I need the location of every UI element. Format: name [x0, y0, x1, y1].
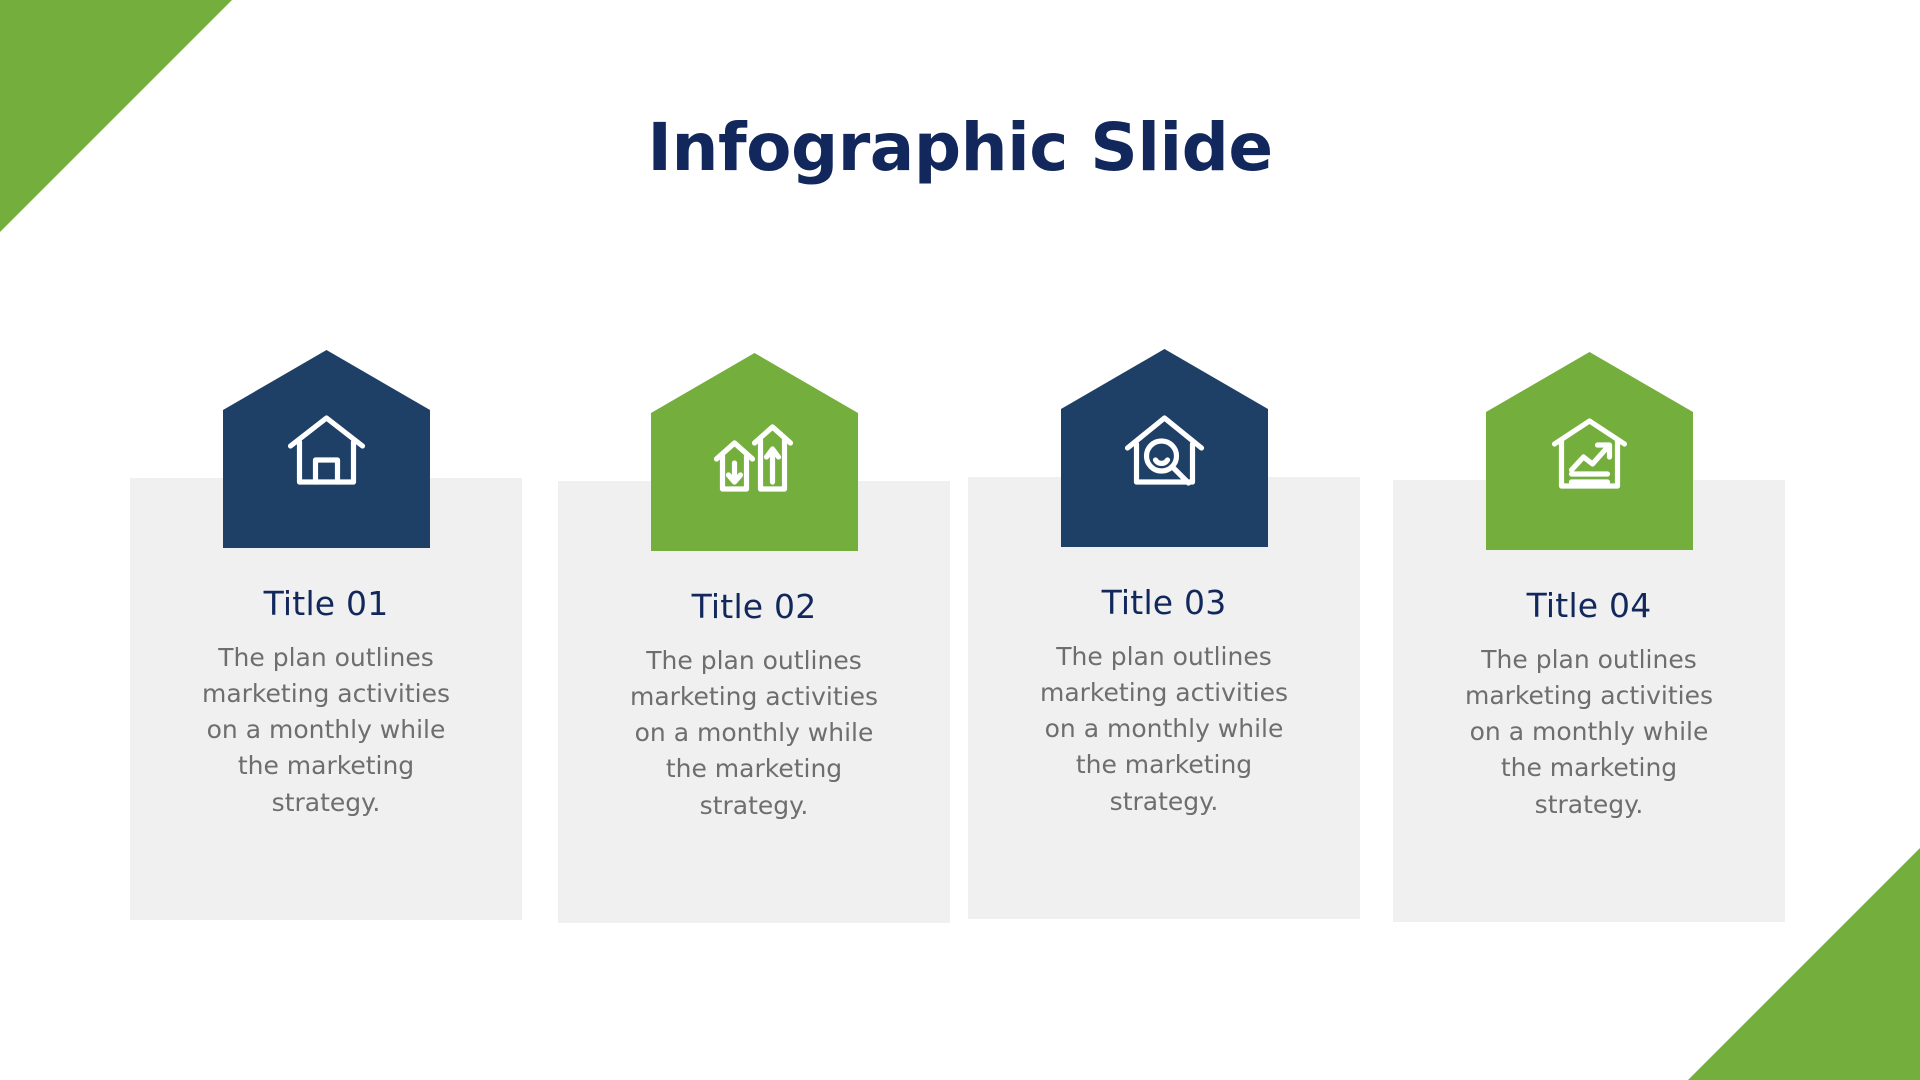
card-title: Title 01: [142, 584, 510, 624]
card-description: The plan outlines marketing activities o…: [980, 639, 1348, 820]
card-badge-pentagon: [651, 353, 858, 551]
card-badge-pentagon: [223, 350, 430, 548]
card-badge-pentagon: [1486, 352, 1693, 550]
card-description: The plan outlines marketing activities o…: [570, 643, 938, 824]
card-title: Title 02: [570, 587, 938, 627]
card-description: The plan outlines marketing activities o…: [1405, 642, 1773, 823]
card-body: Title 02The plan outlines marketing acti…: [558, 587, 950, 824]
card-body: Title 03The plan outlines marketing acti…: [968, 583, 1360, 820]
card-body: Title 04The plan outlines marketing acti…: [1393, 586, 1785, 823]
card-title: Title 04: [1405, 586, 1773, 626]
cards-row: Title 01The plan outlines marketing acti…: [0, 0, 1920, 1080]
card-title: Title 03: [980, 583, 1348, 623]
card-description: The plan outlines marketing activities o…: [142, 640, 510, 821]
card-body: Title 01The plan outlines marketing acti…: [130, 584, 522, 821]
card-badge-pentagon: [1061, 349, 1268, 547]
infographic-slide: Infographic Slide Title 01The plan outli…: [0, 0, 1920, 1080]
